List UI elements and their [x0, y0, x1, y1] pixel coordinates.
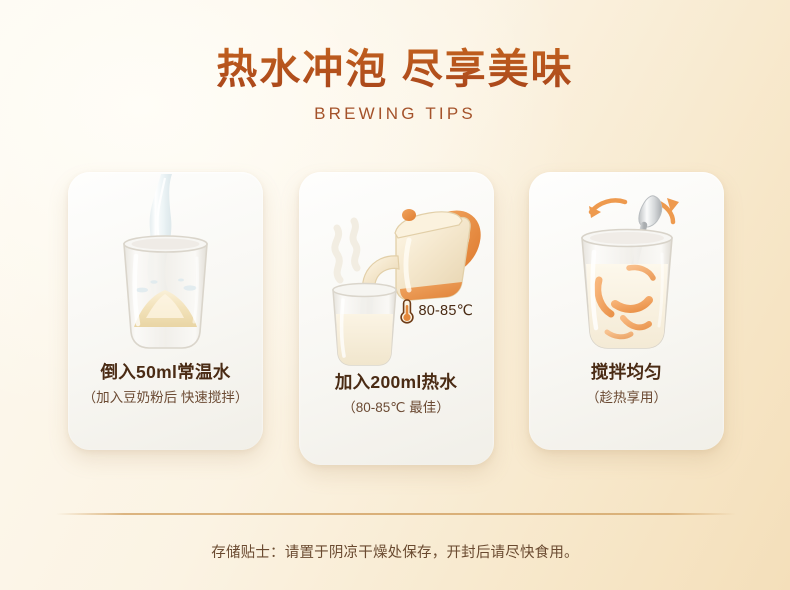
kettle-knob	[402, 209, 416, 221]
glass-of-soymilk	[333, 284, 396, 366]
glass	[582, 230, 672, 349]
page-header: 热水冲泡 尽享美味 BREWING TIPS	[0, 44, 790, 124]
brewing-tips-page: 热水冲泡 尽享美味 BREWING TIPS	[0, 0, 790, 590]
step-card-stir[interactable]: 搅拌均匀 （趁热享用）	[529, 172, 724, 450]
page-title: 热水冲泡 尽享美味	[0, 44, 790, 94]
step-card-hot-water[interactable]: 80-85℃ 加入200ml热水 （80-85℃ 最佳）	[299, 172, 494, 465]
step-1-illustration	[68, 172, 263, 362]
step-3-caption: 搅拌均匀 （趁热享用）	[529, 362, 724, 406]
step-2-title: 加入200ml热水	[299, 372, 494, 393]
step-2-subtitle: （80-85℃ 最佳）	[299, 400, 494, 416]
step-1-title: 倒入50ml常温水	[68, 362, 263, 383]
kettle-pouring-into-glass-icon	[299, 172, 494, 372]
glass-with-powder-and-water-pour-icon	[68, 172, 263, 362]
temperature-text: 80-85℃	[419, 303, 474, 319]
step-1-caption: 倒入50ml常温水 （加入豆奶粉后 快速搅拌）	[68, 362, 263, 406]
step-2-caption: 加入200ml热水 （80-85℃ 最佳）	[299, 372, 494, 416]
steps-row: 倒入50ml常温水 （加入豆奶粉后 快速搅拌）	[68, 172, 724, 465]
step-3-illustration	[529, 172, 724, 362]
glass-with-spoon-stirring-icon	[529, 172, 724, 362]
page-subtitle: BREWING TIPS	[0, 104, 790, 124]
step-1-subtitle: （加入豆奶粉后 快速搅拌）	[68, 390, 263, 406]
footer-divider	[56, 513, 736, 515]
storage-note: 存储贴士：请置于阴凉干燥处保存，开封后请尽快食用。	[0, 541, 790, 562]
step-3-subtitle: （趁热享用）	[529, 390, 724, 406]
step-3-title: 搅拌均匀	[529, 362, 724, 383]
step-card-pour-water[interactable]: 倒入50ml常温水 （加入豆奶粉后 快速搅拌）	[68, 172, 263, 450]
thermometer-icon	[399, 298, 415, 324]
steam	[334, 221, 356, 280]
step-2-illustration: 80-85℃	[299, 172, 494, 372]
temperature-badge: 80-85℃	[399, 298, 474, 324]
